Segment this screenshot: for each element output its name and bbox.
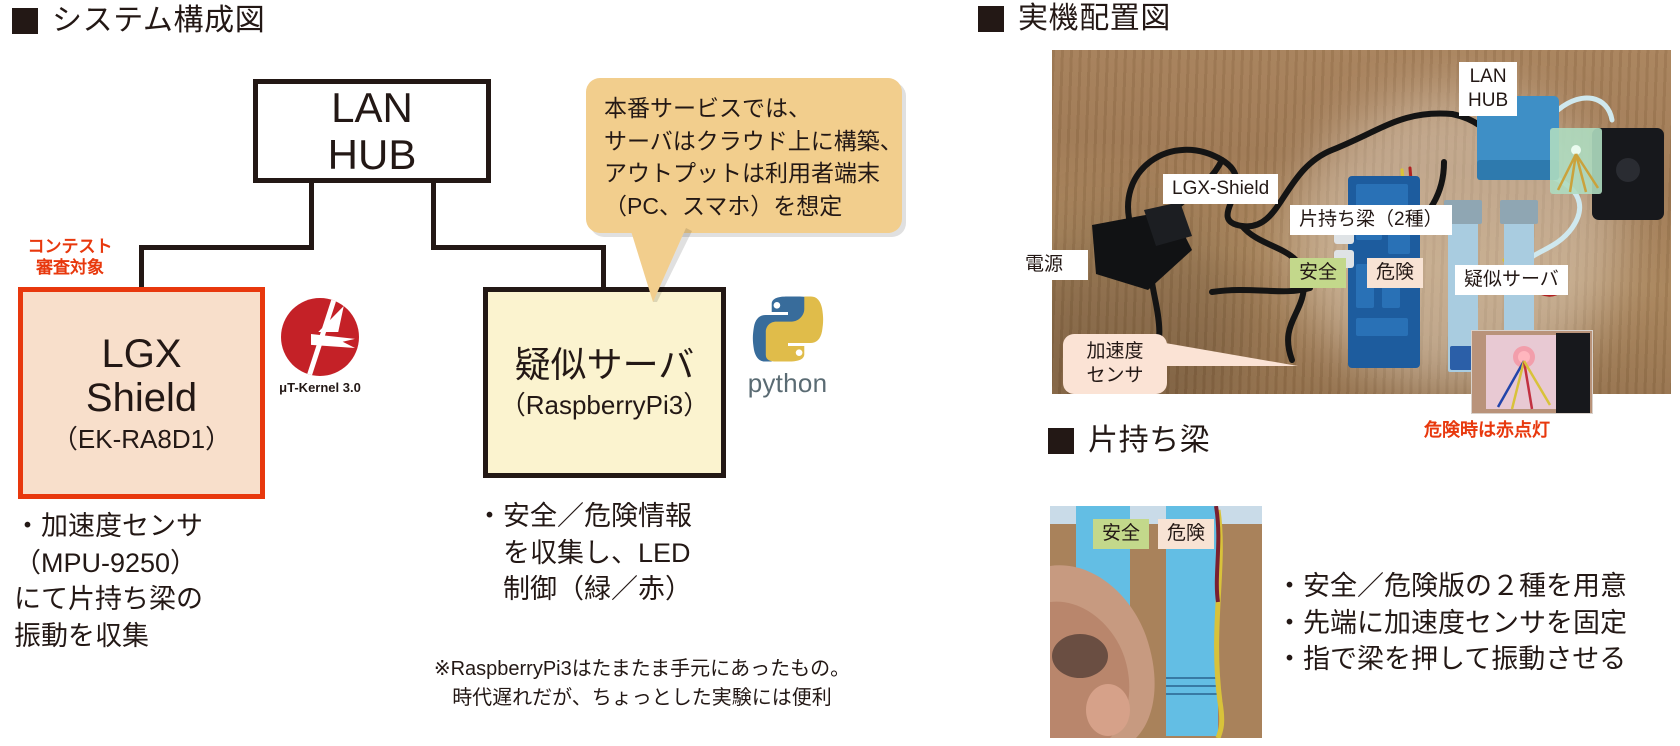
callout-bubble: 本番サービスでは、 サーバはクラウド上に構築、 アウトプットは利用者端末 （PC… bbox=[586, 78, 902, 233]
accel-sensor-leader-icon bbox=[1148, 336, 1308, 372]
tag-cantilever-two-types: 片持ち梁（2種） bbox=[1290, 205, 1452, 235]
callout-line4: （PC、スマホ）を想定 bbox=[604, 190, 884, 223]
section-title-cantilever: 片持ち梁 bbox=[1088, 426, 1210, 456]
bullet-square-icon bbox=[12, 8, 38, 34]
lgx-line2: Shield bbox=[86, 376, 197, 421]
section-heading-device-layout: 実機配置図 bbox=[978, 4, 1171, 34]
connector-lan-left-horiz bbox=[139, 245, 314, 250]
connector-lan-right-vert bbox=[431, 183, 436, 249]
ut-kernel-label: μT-Kernel 3.0 bbox=[272, 380, 368, 395]
tag-safe-cantilever: 安全 bbox=[1093, 519, 1149, 549]
tag-power: 電源 bbox=[1000, 250, 1088, 280]
tag-pseudo-server-photo: 疑似サーバ bbox=[1455, 265, 1568, 295]
lan-hub-line1: LAN bbox=[331, 84, 413, 131]
connector-lan-left-vert bbox=[309, 183, 314, 249]
python-logo: python bbox=[730, 292, 845, 399]
lgx-shield-box: LGX Shield （EK-RA8D1） bbox=[18, 287, 265, 499]
ut-kernel-disc-icon bbox=[281, 298, 359, 376]
callout-line2: サーバはクラウド上に構築、 bbox=[604, 125, 884, 158]
section-heading-cantilever: 片持ち梁 bbox=[1048, 426, 1210, 456]
cantilever-bullets: ・安全／危険版の２種を用意 ・先端に加速度センサを固定 ・指で梁を押して振動させ… bbox=[1276, 568, 1676, 678]
slide-root: システム構成図 LAN HUB コンテスト 審査対象 LGX Shield （E… bbox=[0, 0, 1680, 746]
footnote-raspberrypi: ※RaspberryPi3はたまたま手元にあったもの。 時代遅れだが、ちょっとし… bbox=[382, 655, 902, 713]
python-glyph-icon bbox=[751, 292, 825, 366]
ut-kernel-logo: μT-Kernel 3.0 bbox=[272, 298, 368, 395]
red-caption-danger-led: 危険時は赤点灯 bbox=[1424, 416, 1550, 442]
section-heading-system-diagram: システム構成図 bbox=[12, 6, 265, 36]
connector-lgx-drop bbox=[139, 245, 144, 287]
bullet-square-icon-2 bbox=[978, 6, 1004, 32]
callout-tail-icon bbox=[620, 228, 730, 303]
connector-server-drop bbox=[601, 245, 606, 287]
connector-lan-right-horiz bbox=[431, 245, 606, 250]
cantilever-photo-content bbox=[1050, 506, 1262, 738]
server-line1: 疑似サーバ bbox=[515, 345, 695, 385]
lgx-line3: （EK-RA8D1） bbox=[52, 425, 231, 454]
bullet-square-icon-3 bbox=[1048, 428, 1074, 454]
section-title-system-diagram: システム構成図 bbox=[52, 6, 265, 36]
callout-line1: 本番サービスでは、 bbox=[604, 92, 884, 125]
contest-target-note: コンテスト 審査対象 bbox=[15, 236, 125, 279]
callout-line3: アウトプットは利用者端末 bbox=[604, 157, 884, 190]
tag-danger-photo: 危険 bbox=[1367, 258, 1423, 288]
section-title-device-layout: 実機配置図 bbox=[1018, 4, 1171, 34]
python-label: python bbox=[730, 368, 845, 399]
pseudo-server-box: 疑似サーバ （RaspberryPi3） bbox=[483, 287, 726, 478]
lgx-line1: LGX bbox=[101, 332, 181, 377]
lgx-bullets: ・加速度センサ （MPU-9250） にて片持ち梁の 振動を収集 bbox=[14, 508, 294, 655]
server-line2: （RaspberryPi3） bbox=[500, 391, 710, 420]
ut-kernel-bolt-icon bbox=[318, 306, 344, 332]
inset-photo-content bbox=[1472, 331, 1592, 413]
tag-lgx-shield: LGX-Shield bbox=[1163, 174, 1278, 204]
cantilever-photo bbox=[1050, 506, 1262, 738]
inset-photo-red-led bbox=[1471, 330, 1593, 414]
lan-hub-line2: HUB bbox=[328, 131, 417, 178]
tag-lan-hub: LAN HUB bbox=[1459, 62, 1517, 116]
tag-safe-photo: 安全 bbox=[1290, 258, 1346, 288]
lan-hub-box: LAN HUB bbox=[253, 79, 491, 183]
tag-danger-cantilever: 危険 bbox=[1158, 519, 1214, 549]
server-bullets: ・安全／危険情報 を収集し、LED 制御（緑／赤） bbox=[476, 498, 766, 608]
